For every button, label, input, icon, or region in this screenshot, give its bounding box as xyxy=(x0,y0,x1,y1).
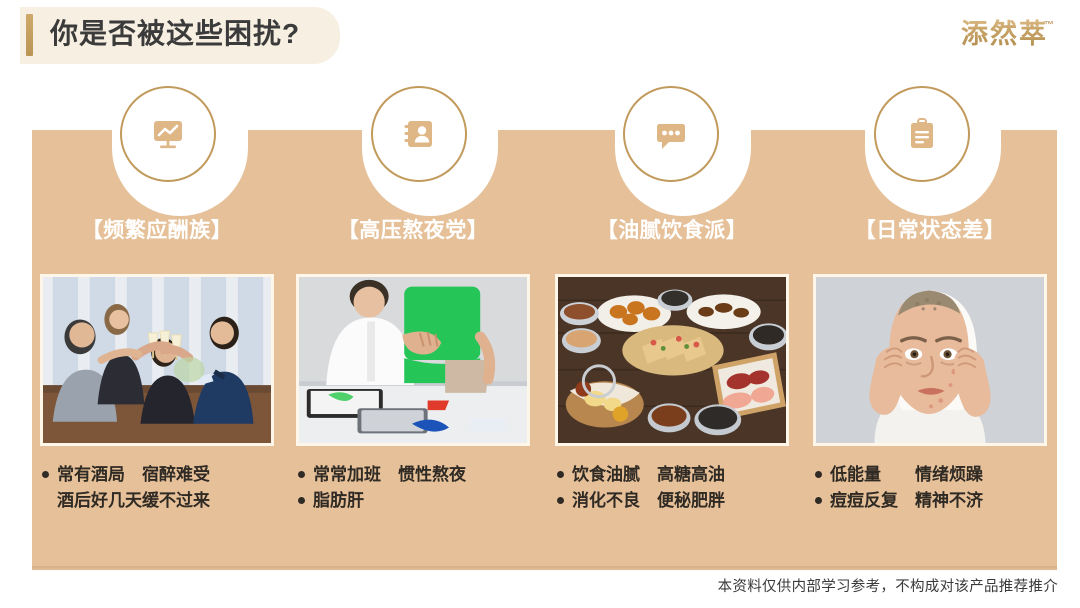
list-item: 常常加班 惯性熬夜 xyxy=(298,462,542,488)
page-title: 你是否被这些困扰? xyxy=(50,12,300,56)
doctor-exam-photo xyxy=(296,274,530,446)
column-1: 【频繁应酬族】 xyxy=(32,130,282,570)
panel-shadow xyxy=(32,566,1057,571)
bullet-line-1: 消化不良 便秘肥胖 xyxy=(572,488,725,514)
list-item: 消化不良 便秘肥胖 xyxy=(557,488,801,514)
column-1-heading: 【频繁应酬族】 xyxy=(32,214,282,244)
bullet-line-1: 低能量 情绪烦躁 xyxy=(830,462,983,488)
bullet-dot xyxy=(557,497,564,504)
trademark-symbol: ™ xyxy=(1044,20,1054,31)
title-accent-bar xyxy=(26,14,33,56)
column-4-heading: 【日常状态差】 xyxy=(805,214,1055,244)
list-item: 低能量 情绪烦躁 xyxy=(815,462,1059,488)
column-3-heading: 【油腻饮食派】 xyxy=(547,214,797,244)
header: 你是否被这些困扰? 添然萃 ™ xyxy=(0,0,1080,78)
bullet-line-1: 脂肪肝 xyxy=(313,488,364,514)
column-2-bullets: 常常加班 惯性熬夜 脂肪肝 xyxy=(298,462,542,514)
slide-root: 你是否被这些困扰? 添然萃 ™ xyxy=(0,0,1080,608)
bullet-line-1: 常有酒局 宿醉难受 xyxy=(57,465,210,484)
bullet-dot xyxy=(42,471,49,478)
bullet-line-2: 酒后好几天缓不过来 xyxy=(57,491,210,510)
column-2: 【高压熬夜党】 xyxy=(288,130,538,570)
bullet-dot xyxy=(815,497,822,504)
column-2-heading: 【高压熬夜党】 xyxy=(288,214,538,244)
bullet-dot xyxy=(815,471,822,478)
list-item: 痘痘反复 精神不济 xyxy=(815,488,1059,514)
column-1-bullets: 常有酒局 宿醉难受 酒后好几天缓不过来 xyxy=(42,462,286,514)
brand-logo: 添然萃 ™ xyxy=(922,12,1062,52)
list-item: 饮食油腻 高糖高油 xyxy=(557,462,801,488)
tired-woman-photo xyxy=(813,274,1047,446)
column-4: 【日常状态差】 xyxy=(805,130,1055,570)
bullet-line-1: 痘痘反复 精神不济 xyxy=(830,488,983,514)
greasy-food-photo xyxy=(555,274,789,446)
bullet-dot xyxy=(557,471,564,478)
column-3: 【油腻饮食派】 xyxy=(547,130,797,570)
bullet-line-1: 常常加班 惯性熬夜 xyxy=(313,462,466,488)
bullet-dot xyxy=(298,471,305,478)
column-4-bullets: 低能量 情绪烦躁 痘痘反复 精神不济 xyxy=(815,462,1059,514)
bullet-dot xyxy=(298,497,305,504)
footer-disclaimer: 本资料仅供内部学习参考，不构成对该产品推荐推介 xyxy=(0,575,1080,596)
business-toast-photo xyxy=(40,274,274,446)
list-item: 脂肪肝 xyxy=(298,488,542,514)
list-item: 常有酒局 宿醉难受 酒后好几天缓不过来 xyxy=(42,462,286,514)
brand-logo-text: 添然萃 xyxy=(961,12,1048,51)
bullet-line-1: 饮食油腻 高糖高油 xyxy=(572,462,725,488)
column-3-bullets: 饮食油腻 高糖高油 消化不良 便秘肥胖 xyxy=(557,462,801,514)
